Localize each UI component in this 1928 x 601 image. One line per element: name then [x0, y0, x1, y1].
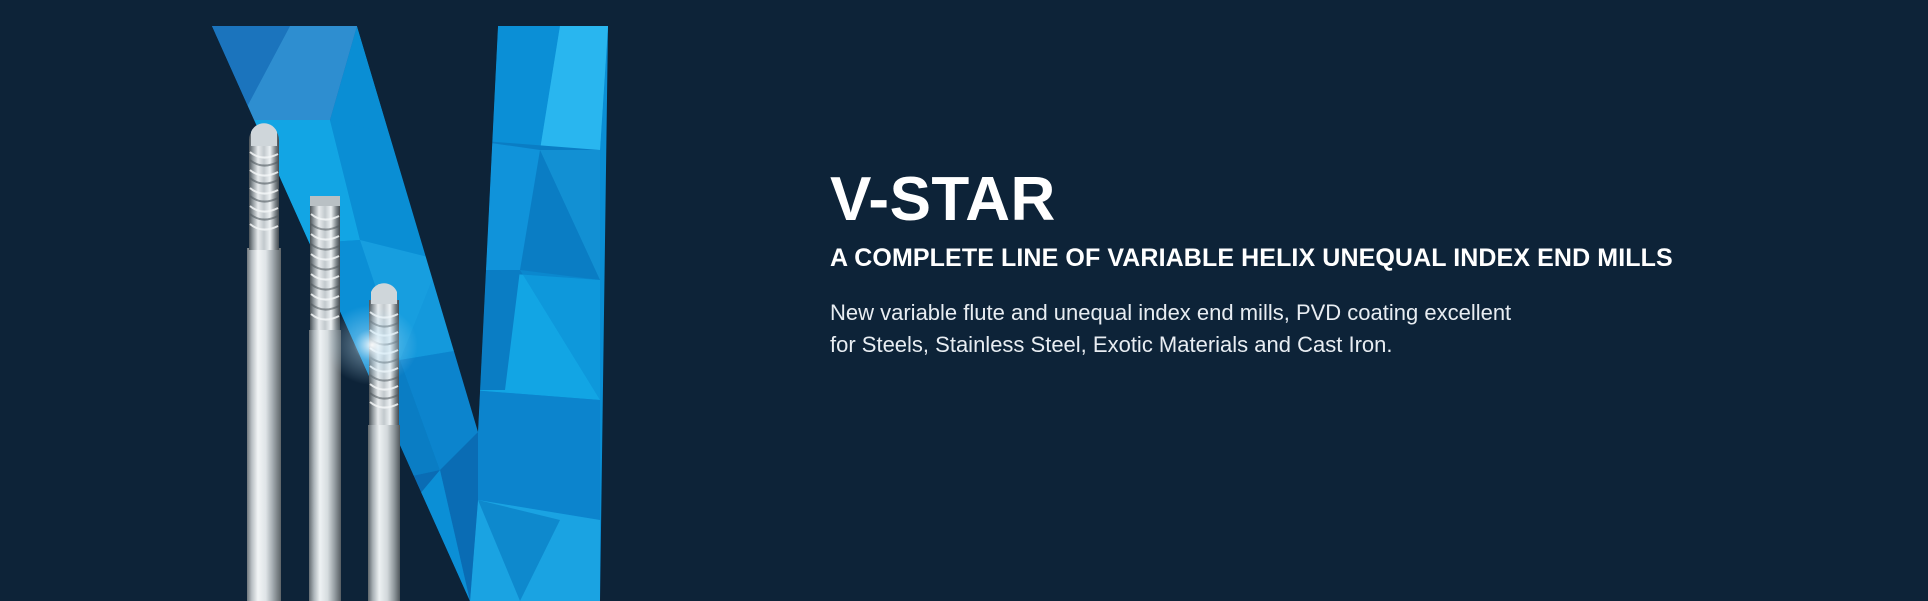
v-star-graphic: [0, 0, 780, 601]
banner-description: New variable flute and unequal index end…: [830, 297, 1850, 359]
sparkle-highlight: [326, 305, 418, 385]
banner-copy: V-STAR A COMPLETE LINE OF VARIABLE HELIX…: [830, 168, 1850, 360]
description-line-1: New variable flute and unequal index end…: [830, 297, 1850, 328]
description-line-2: for Steels, Stainless Steel, Exotic Mate…: [830, 329, 1850, 360]
promo-banner: V-STAR A COMPLETE LINE OF VARIABLE HELIX…: [0, 0, 1928, 601]
end-mill-large: [247, 123, 281, 601]
end-mill-medium: [309, 196, 341, 601]
page-title: V-STAR: [830, 168, 1850, 232]
banner-subtitle: A COMPLETE LINE OF VARIABLE HELIX UNEQUA…: [830, 244, 1850, 273]
